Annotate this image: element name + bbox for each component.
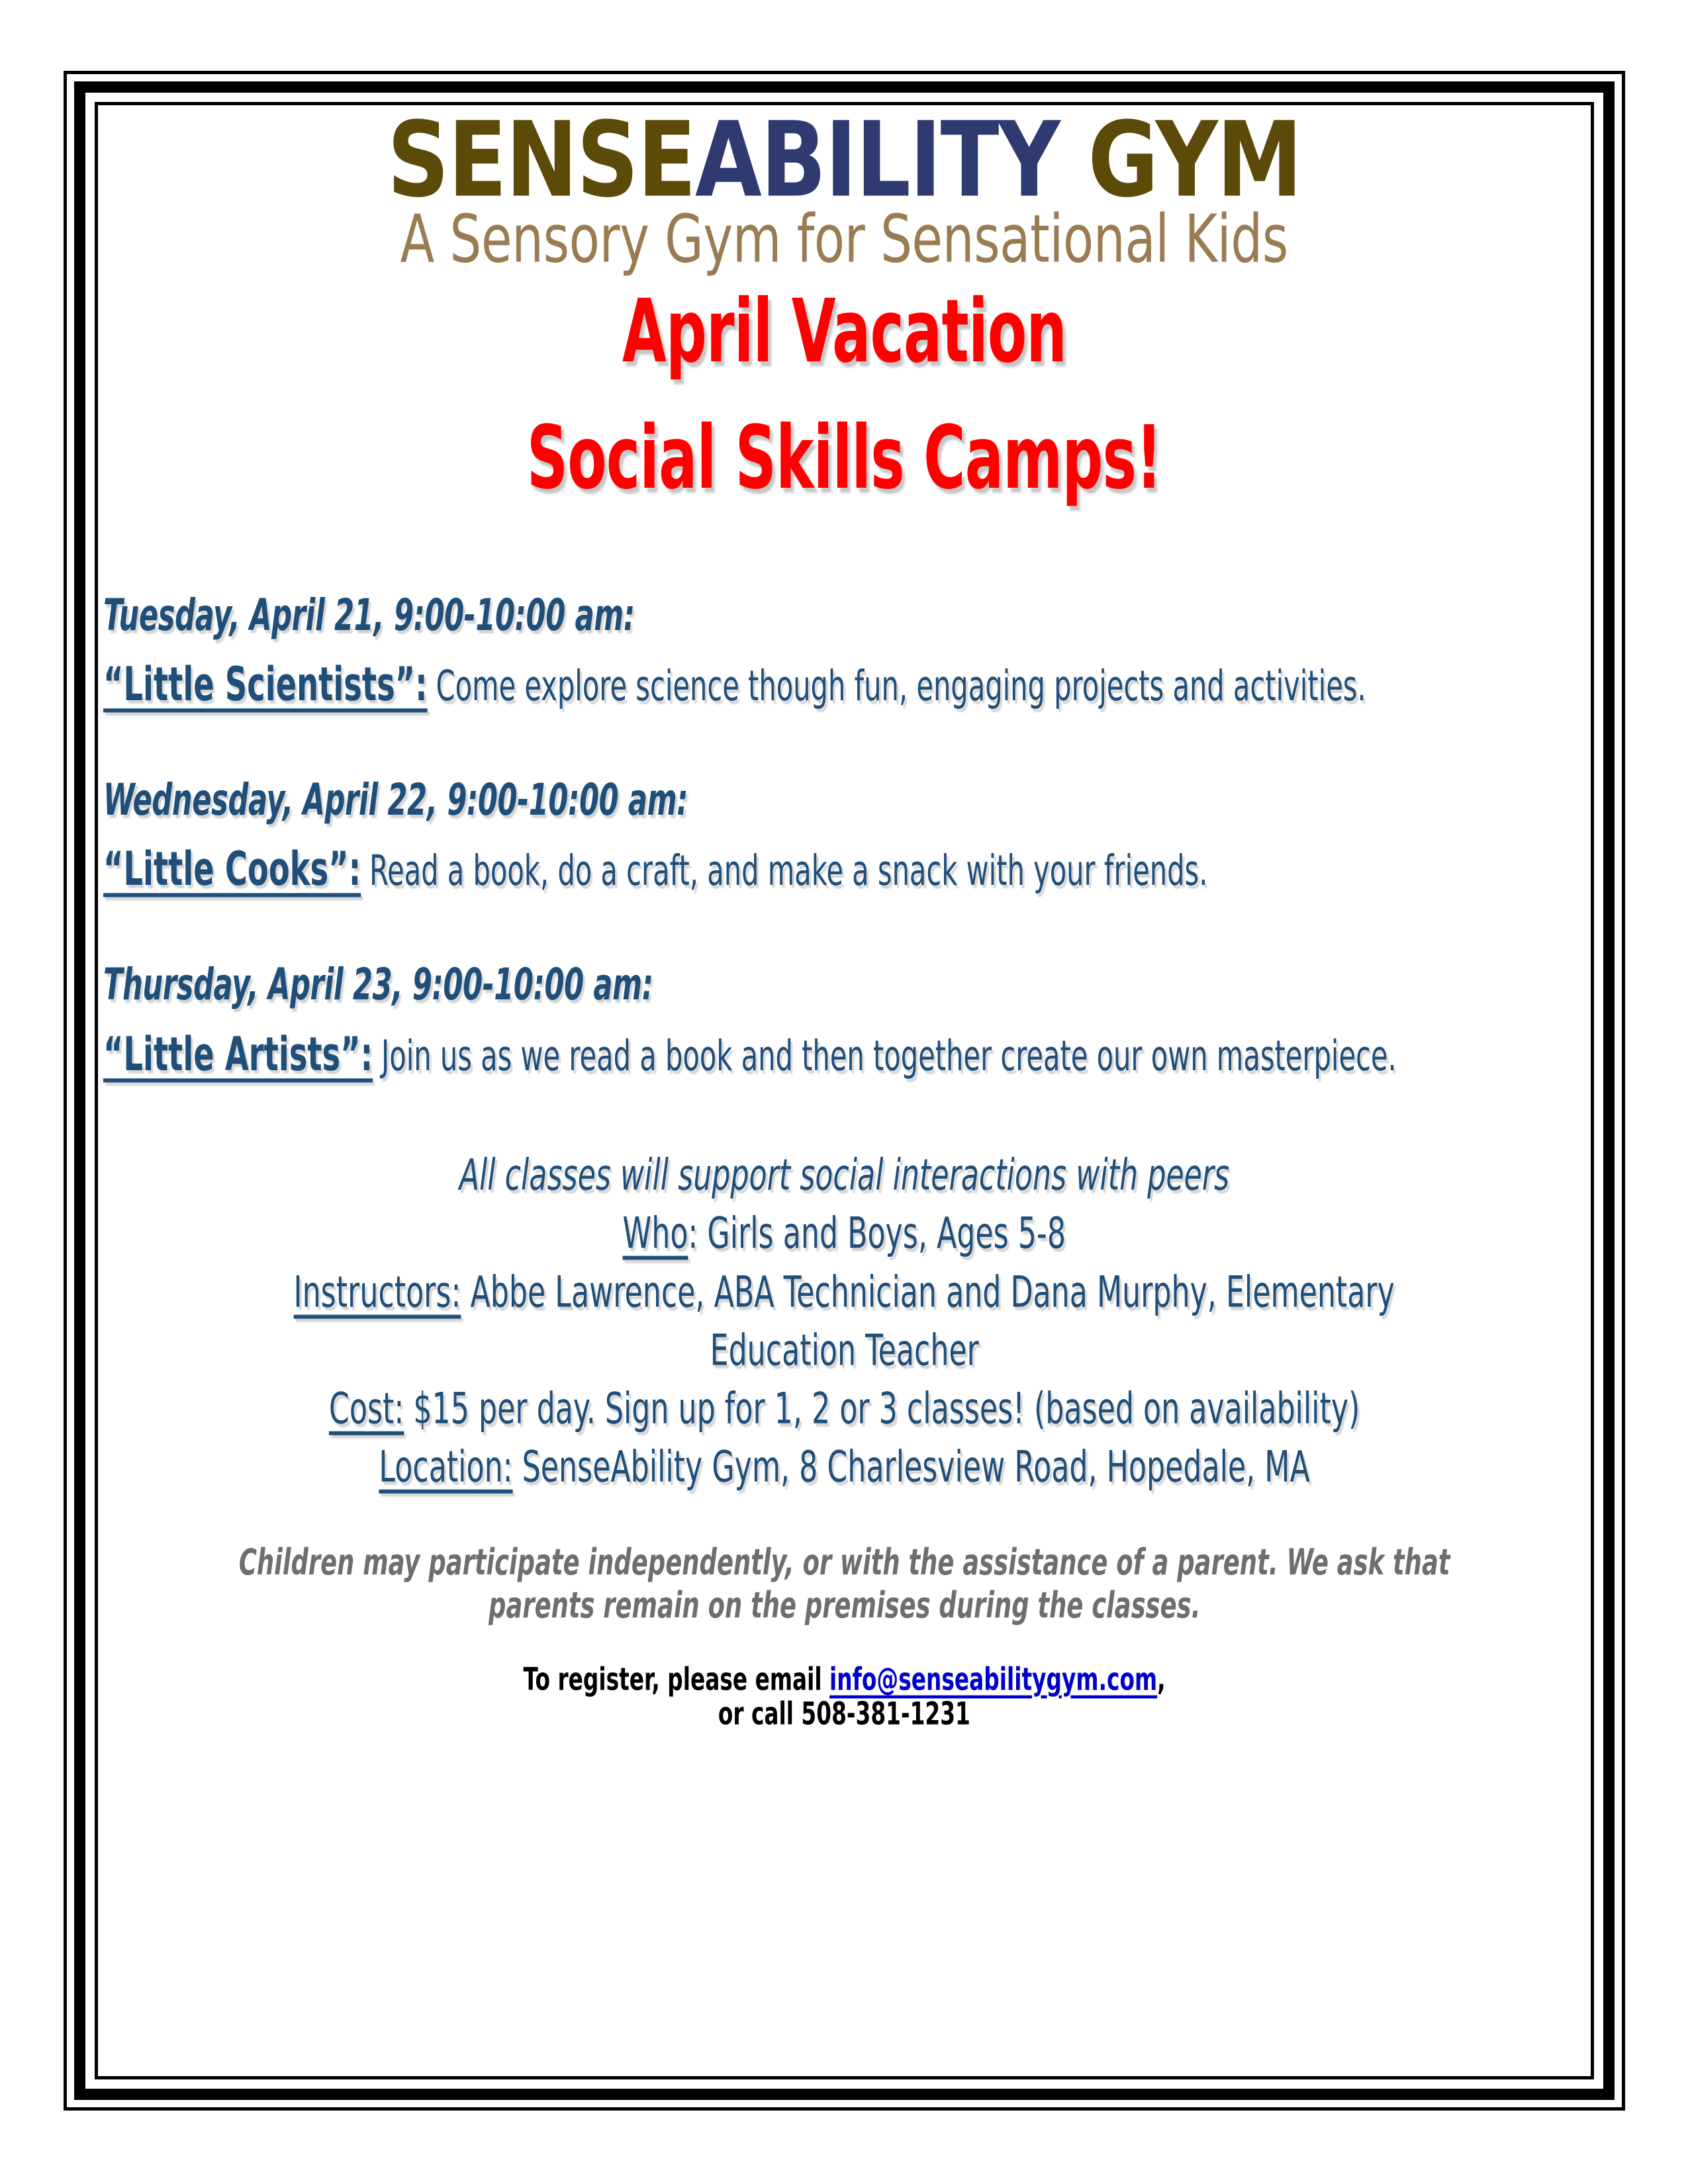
details-location-row: Location: SenseAbility Gym, 8 Charlesvie… <box>101 1447 1588 1488</box>
email-link[interactable]: info@senseabilitygym.com <box>829 1662 1157 1698</box>
details-slogan-row: All classes will support social interact… <box>101 1155 1588 1196</box>
session-blurb: Join us as we read a book and then toget… <box>381 1032 1397 1080</box>
contact-email-inner: To register, please email info@senseabil… <box>523 1661 1165 1699</box>
logo-wordmark: SENSEABILITY GYM <box>387 109 1301 213</box>
who-value: : Girls and Boys, Ages 5-8 <box>688 1208 1066 1259</box>
session-schedule: Tuesday, April 21, 9:00-10:00 am: <box>103 591 635 639</box>
details-instructors-row: Instructors: Abbe Lawrence, ABA Technici… <box>101 1272 1588 1313</box>
session-blurb: Come explore science though fun, engagin… <box>436 662 1366 711</box>
details-cost-row: Cost: $15 per day. Sign up for 1, 2 or 3… <box>101 1388 1588 1430</box>
details-location: Location: SenseAbility Gym, 8 Charlesvie… <box>379 1443 1309 1492</box>
session-list: Tuesday, April 21, 9:00-10:00 am: “Littl… <box>101 596 1588 1076</box>
details-who: Who: Girls and Boys, Ages 5-8 <box>623 1209 1066 1259</box>
page-title: April Vacation Social Skills Camps! <box>101 295 1588 496</box>
contact-phone-text: or call 508-381-1231 <box>718 1696 970 1733</box>
session-name: “Little Artists”: <box>103 1026 373 1081</box>
flyer-page: SENSEABILITY GYM A Sensory Gym for Sensa… <box>0 0 1688 2184</box>
session-description-row: “Little Cooks”:Read a book, do a craft, … <box>103 844 1207 895</box>
title-line-1: April Vacation <box>622 287 1066 378</box>
cost-value: $15 per day. Sign up for 1, 2 or 3 class… <box>404 1383 1360 1433</box>
contact-block: To register, please email info@senseabil… <box>101 1664 1588 1730</box>
parent-note: Children may participate independently, … <box>101 1545 1588 1623</box>
details-who-row: Who: Girls and Boys, Ages 5-8 <box>101 1213 1588 1254</box>
contact-phone-line: or call 508-381-1231 <box>101 1698 1588 1730</box>
logo: SENSEABILITY GYM A Sensory Gym for Sensa… <box>101 108 1588 268</box>
location-value: SenseAbility Gym, 8 Charlesview Road, Ho… <box>512 1441 1309 1492</box>
details-slogan: All classes will support social interact… <box>459 1151 1229 1201</box>
session-schedule: Wednesday, April 22, 9:00-10:00 am: <box>103 776 688 823</box>
location-label: Location: <box>379 1441 512 1492</box>
contact-email-line: To register, please email info@senseabil… <box>101 1664 1588 1696</box>
details-instructors: Instructors: Abbe Lawrence, ABA Technici… <box>294 1267 1395 1317</box>
register-prefix-text: To register, please email <box>523 1662 829 1698</box>
details-cost: Cost: $15 per day. Sign up for 1, 2 or 3… <box>329 1385 1360 1434</box>
session-schedule: Thursday, April 23, 9:00-10:00 am: <box>103 961 653 1009</box>
parent-note-line-1: Children may participate independently, … <box>101 1545 1588 1580</box>
parent-note-line-2: parents remain on the premises during th… <box>101 1588 1588 1623</box>
session-item: Thursday, April 23, 9:00-10:00 am: “Litt… <box>103 965 1588 1075</box>
details-block: All classes will support social interact… <box>101 1155 1588 1488</box>
session-name: “Little Scientists”: <box>103 657 428 711</box>
cost-label: Cost: <box>329 1383 404 1433</box>
logo-tagline: A Sensory Gym for Sensational Kids <box>400 206 1288 273</box>
instructors-value-continued: Education Teacher <box>710 1326 978 1375</box>
session-item: Tuesday, April 21, 9:00-10:00 am: “Littl… <box>103 596 1588 706</box>
session-blurb: Read a book, do a craft, and make a snac… <box>369 847 1207 895</box>
instructors-label: Instructors: <box>294 1267 461 1317</box>
session-description-row: “Little Scientists”:Come explore science… <box>103 659 1366 711</box>
parent-note-text-2: parents remain on the premises during th… <box>489 1584 1201 1627</box>
title-line-2: Social Skills Camps! <box>527 413 1162 504</box>
parent-note-text-1: Children may participate independently, … <box>239 1541 1450 1584</box>
session-item: Wednesday, April 22, 9:00-10:00 am: “Lit… <box>103 780 1588 891</box>
register-suffix-text: , <box>1157 1662 1165 1698</box>
instructors-value: Abbe Lawrence, ABA Technician and Dana M… <box>461 1267 1395 1317</box>
session-description-row: “Little Artists”:Join us as we read a bo… <box>103 1029 1397 1081</box>
details-instructors-row-2: Education Teacher <box>101 1330 1588 1371</box>
session-name: “Little Cooks”: <box>103 842 361 897</box>
flyer-content: SENSEABILITY GYM A Sensory Gym for Sensa… <box>101 108 1588 2073</box>
who-label: Who <box>623 1208 688 1259</box>
